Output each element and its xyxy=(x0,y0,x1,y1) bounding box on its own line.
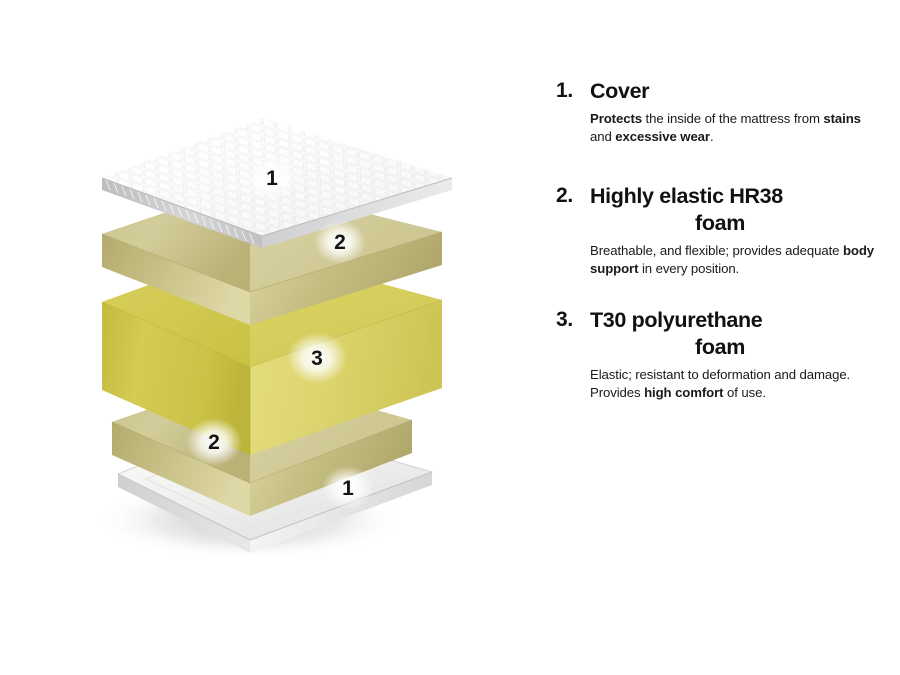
legend-title: Cover xyxy=(590,78,886,105)
legend-item-cover: 1. Cover Protects the inside of the matt… xyxy=(556,78,886,145)
legend-title: Highly elastic HR38 foam xyxy=(590,183,886,237)
label-cover-bottom: 1 xyxy=(322,466,374,510)
legend-title-line1: T30 polyurethane xyxy=(590,308,762,332)
label-foam-lower: 2 xyxy=(186,418,242,466)
layer-legend-list: 1. Cover Protects the inside of the matt… xyxy=(556,78,886,405)
legend-body: Protects the inside of the mattress from… xyxy=(590,110,886,145)
label-cover-bottom-text: 1 xyxy=(342,477,354,500)
legend-head: 3. T30 polyurethane foam xyxy=(556,307,886,361)
legend-title-line1: Highly elastic HR38 xyxy=(590,184,783,208)
label-foam-upper: 2 xyxy=(314,220,366,264)
label-foam-lower-text: 2 xyxy=(208,431,220,454)
legend-index: 3. xyxy=(556,307,590,333)
legend-body: Elastic; resistant to deformation and da… xyxy=(590,366,886,401)
legend-title: T30 polyurethane foam xyxy=(590,307,886,361)
legend-head: 1. Cover xyxy=(556,78,886,105)
label-cover-top-text: 1 xyxy=(266,167,278,190)
legend-item-t30-foam: 3. T30 polyurethane foam Elastic; resist… xyxy=(556,307,886,401)
label-core-block-text: 3 xyxy=(311,347,323,370)
legend-item-hr38-foam: 2. Highly elastic HR38 foam Breathable, … xyxy=(556,183,886,277)
label-foam-upper-text: 2 xyxy=(334,231,346,254)
mattress-layers-diagram: 1 2 3 2 1 xyxy=(0,0,520,675)
legend-title-line2: foam xyxy=(590,334,886,361)
label-cover-top: 1 xyxy=(246,156,298,200)
legend-title-line2: foam xyxy=(590,210,886,237)
legend-index: 2. xyxy=(556,183,590,209)
label-core-block: 3 xyxy=(287,332,347,384)
legend-head: 2. Highly elastic HR38 foam xyxy=(556,183,886,237)
legend-index: 1. xyxy=(556,78,590,104)
legend-body: Breathable, and flexible; provides adequ… xyxy=(590,242,886,277)
